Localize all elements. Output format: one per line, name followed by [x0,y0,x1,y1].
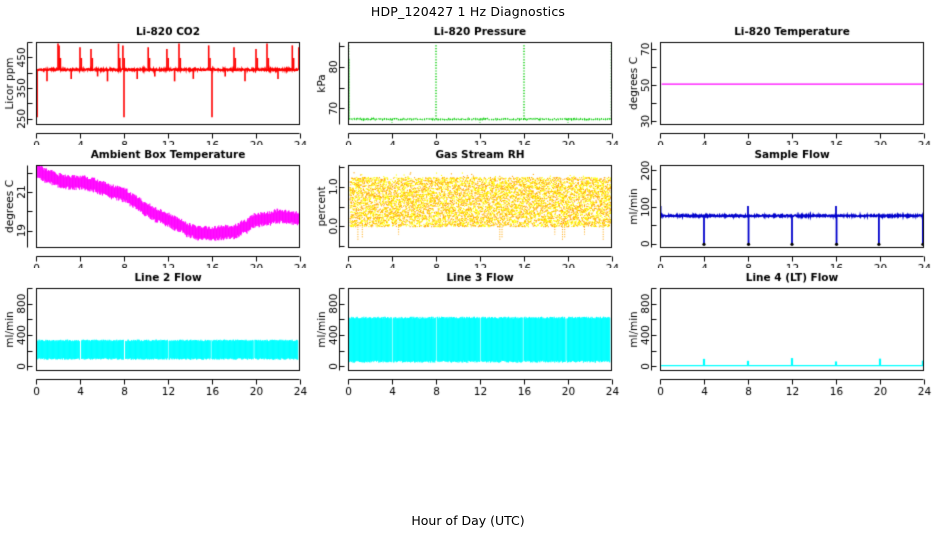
panel-li820-co2 [0,22,312,157]
chart-canvas-8 [624,268,936,403]
chart-canvas-4 [312,145,624,280]
x-axis-label: Hour of Day (UTC) [0,513,936,528]
figure-title: HDP_120427 1 Hz Diagnostics [0,4,936,19]
panel-line-2-flow [0,268,312,403]
chart-canvas-7 [312,268,624,403]
panel-sample-flow [624,145,936,280]
panel-ambient-box-temperature [0,145,312,280]
chart-canvas-5 [624,145,936,280]
chart-canvas-1 [312,22,624,157]
panel-li820-temperature [624,22,936,157]
panel-line-3-flow [312,268,624,403]
panel-line-4-lt-flow [624,268,936,403]
chart-canvas-2 [624,22,936,157]
chart-canvas-6 [0,268,312,403]
panel-gas-stream-rh [312,145,624,280]
chart-canvas-0 [0,22,312,157]
panel-li820-pressure [312,22,624,157]
chart-canvas-3 [0,145,312,280]
